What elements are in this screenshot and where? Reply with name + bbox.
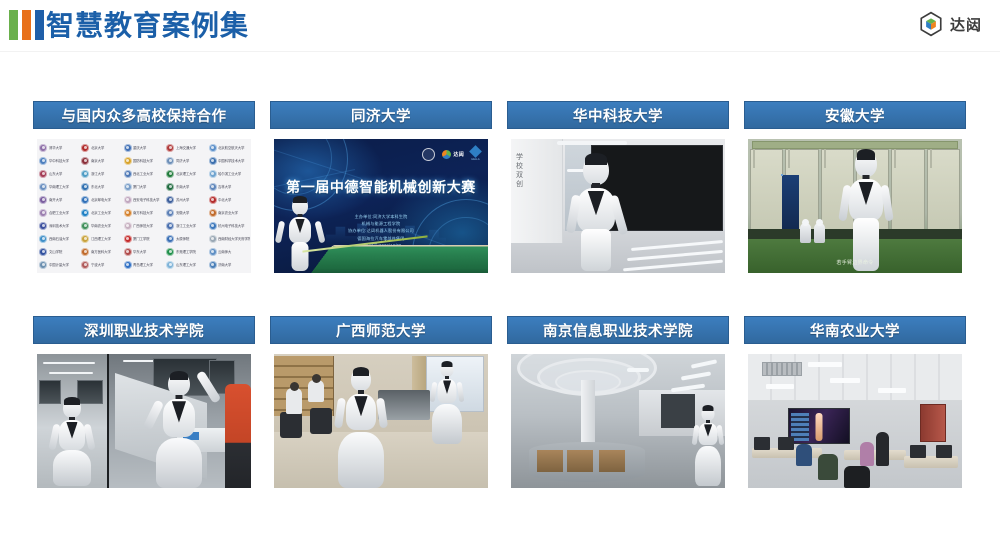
ceiling-vent: [762, 362, 802, 376]
card-title-tongji: 同济大学: [270, 101, 492, 129]
university-chip: 西南财经大学天府学院: [208, 232, 250, 245]
university-chip: 青岛理工大学: [123, 258, 165, 271]
robots-in-classroom-image: [274, 354, 488, 488]
university-chip: 国防科技大学: [123, 154, 165, 167]
university-name: 吉林大学: [218, 184, 231, 189]
university-name: 南方医科大学: [91, 249, 111, 254]
university-seal-icon: [166, 235, 174, 243]
university-name: 南方科技大学: [133, 210, 153, 215]
university-chip: 清华大学: [38, 141, 80, 154]
humanoid-robot: [840, 151, 892, 271]
seated-student: [286, 388, 302, 414]
university-name: 安徽大学: [176, 210, 189, 215]
office-chair: [280, 412, 302, 438]
university-chip: 济南大学: [208, 258, 250, 271]
service-robot: [51, 398, 93, 486]
accent-bar-green: [9, 10, 18, 40]
university-name: 广西师范大学: [133, 223, 153, 228]
university-name: 华南理工大学: [49, 184, 69, 189]
university-seal-icon: [166, 222, 174, 230]
university-seal-icon: [166, 183, 174, 191]
university-seal-icon: [39, 248, 47, 256]
university-seal-icon: [124, 222, 132, 230]
computer-monitor: [754, 437, 770, 450]
case-card-hust[interactable]: 华中科技大学 学校双创: [507, 101, 729, 284]
seated-student: [796, 444, 812, 466]
university-seal-icon: [124, 235, 132, 243]
lab-cabinet: [891, 149, 924, 231]
university-chip: 同济大学: [165, 154, 207, 167]
darwin-brand-icon: 达闼: [442, 150, 464, 159]
case-card-gxnu[interactable]: 广西师范大学: [270, 316, 492, 499]
ceiling-light: [830, 378, 860, 383]
card-media-scau: [744, 350, 966, 490]
university-seal-icon: [166, 144, 174, 152]
card-title-szpt: 深圳职业技术学院: [33, 316, 255, 344]
humanoid-robot: [280, 197, 320, 271]
seated-student: [844, 466, 870, 488]
university-seal-icon: [81, 209, 89, 217]
card-media-partners: 清华大学北京大学重庆大学上海交通大学北京航空航天大学华中科技大学南京大学国防科技…: [33, 135, 255, 275]
lab-cabinet: [927, 149, 960, 231]
university-name: 合肥工业大学: [49, 210, 69, 215]
card-title-partners: 与国内众多高校保持合作: [33, 101, 255, 129]
university-chip: 南京大学: [80, 154, 122, 167]
university-chip: 南京农业大学: [208, 206, 250, 219]
university-name: 山东理工大学: [176, 262, 196, 267]
futuristic-hall-image: [511, 354, 725, 488]
presentation-display: [788, 408, 850, 444]
university-name: 南京农业大学: [218, 210, 238, 215]
ceiling-light: [627, 368, 649, 372]
university-seal-icon: [81, 261, 89, 269]
university-chip: 中国科学技术大学: [208, 154, 250, 167]
competition-poster-image: 达闼 HELLA 第一届中德智能机械创新大赛 主办单位:同济大学本科生院 机械与…: [274, 139, 488, 273]
cabinet-top-box: [752, 141, 958, 149]
university-name: 杭州电子科技大学: [218, 223, 244, 228]
wall-vertical-text: 学校双创: [516, 153, 527, 189]
university-seal-icon: [39, 144, 47, 152]
university-seal-icon: [209, 144, 217, 152]
university-name: 同济大学: [176, 158, 189, 163]
university-chip: 中北大学: [208, 193, 250, 206]
university-chip: 北京理工大学: [165, 167, 207, 180]
university-chip: 中国计量大学: [38, 258, 80, 271]
standing-banner: [782, 175, 799, 231]
university-chip: 哈尔滨工业大学: [208, 167, 250, 180]
office-chair: [310, 408, 332, 434]
composite-pane-right: [109, 354, 251, 488]
university-seal-icon: [209, 183, 217, 191]
university-logo-wall: 清华大学北京大学重庆大学上海交通大学北京航空航天大学华中科技大学南京大学国防科技…: [37, 139, 251, 273]
university-chip: 深圳技术大学: [38, 219, 80, 232]
university-seal-icon: [81, 144, 89, 152]
university-chip: 西安电子科技大学: [123, 193, 165, 206]
case-card-tongji[interactable]: 同济大学 达闼: [270, 101, 492, 284]
university-chip: 苏州大学: [165, 193, 207, 206]
accent-bar-orange: [22, 10, 31, 40]
university-seal-icon: [124, 157, 132, 165]
university-seal-icon: [209, 235, 217, 243]
university-chip: 北京大学: [80, 141, 122, 154]
university-name: 东南大学: [176, 184, 189, 189]
university-name: 中北大学: [218, 197, 231, 202]
university-chip: 吉林大学: [208, 180, 250, 193]
university-seal-icon: [124, 144, 132, 152]
university-chip: 重庆大学: [123, 141, 165, 154]
case-card-scau[interactable]: 华南农业大学: [744, 316, 966, 499]
case-card-njcit[interactable]: 南京信息职业技术学院: [507, 316, 729, 499]
ceiling-light: [808, 362, 842, 367]
lab-door: [920, 404, 946, 442]
university-chip: 广西师范大学: [123, 219, 165, 232]
university-name: 青岛理工大学: [133, 262, 153, 267]
case-card-anhui[interactable]: 安徽大学: [744, 101, 966, 284]
service-robots-composite-image: [37, 354, 251, 488]
university-seal-icon: [209, 248, 217, 256]
ceiling-light: [43, 362, 95, 364]
robot-in-lab-image: 若手臂边界命令: [748, 139, 962, 273]
hexagon-cube-logo-icon: [918, 11, 944, 37]
card-media-gxnu: [270, 350, 492, 490]
accent-bar-blue: [35, 10, 44, 40]
corporate-logo: 达闼: [918, 11, 982, 37]
dark-doorway: [661, 394, 695, 428]
university-chip: 东南大学: [165, 180, 207, 193]
poster-logo-row: 达闼 HELLA: [422, 147, 480, 161]
university-seal-icon: [81, 170, 89, 178]
computer-lab-image: [748, 354, 962, 488]
service-robot: [693, 406, 723, 486]
page-title: 智慧教育案例集: [46, 6, 249, 46]
standing-student: [860, 442, 874, 466]
university-name: 厦门工学院: [133, 236, 149, 241]
university-seal-icon: [81, 183, 89, 191]
university-chip: 浙江工业大学: [165, 219, 207, 232]
university-seal-icon: [39, 209, 47, 217]
wooden-desk: [599, 450, 625, 472]
ceiling-light: [49, 372, 93, 374]
university-seal-icon: [209, 157, 217, 165]
billiard-table: [306, 245, 488, 273]
card-media-njcit: [507, 350, 729, 490]
video-subtitle: 若手臂边界命令: [748, 259, 962, 266]
university-seal-icon: [166, 248, 174, 256]
university-chip: 华中科技大学: [38, 154, 80, 167]
university-name: 国防科技大学: [133, 158, 153, 163]
university-name: 清华大学: [49, 145, 62, 150]
university-name: 宁波大学: [91, 262, 104, 267]
university-seal-icon: [166, 157, 174, 165]
university-chip: 华南理工大学: [38, 180, 80, 193]
case-cards-grid: 与国内众多高校保持合作 清华大学北京大学重庆大学上海交通大学北京航空航天大学华中…: [33, 101, 967, 501]
card-title-anhui: 安徽大学: [744, 101, 966, 129]
service-robot: [153, 372, 205, 488]
computer-monitor: [778, 437, 794, 450]
university-chip: 东莞理工学院: [165, 245, 207, 258]
university-chip: 南方医科大学: [80, 245, 122, 258]
humanoid-robot: [334, 368, 388, 488]
wooden-desk: [537, 450, 563, 472]
university-seal-icon: [39, 261, 47, 269]
university-chip: 杭州电子科技大学: [208, 219, 250, 232]
university-seal-icon: [39, 157, 47, 165]
wooden-desk: [567, 450, 593, 472]
university-name: 江西理工大学: [91, 236, 111, 241]
card-media-hust: 学校双创: [507, 135, 729, 275]
university-chip: 上海交通大学: [165, 141, 207, 154]
university-seal-icon: [39, 235, 47, 243]
university-name: 深圳技术大学: [49, 223, 69, 228]
card-media-tongji: 达闼 HELLA 第一届中德智能机械创新大赛 主办单位:同济大学本科生院 机械与…: [270, 135, 492, 275]
ceiling-light: [766, 384, 794, 389]
university-chip: 云南师大: [208, 245, 250, 258]
university-name: 华中科技大学: [49, 158, 69, 163]
seated-student: [308, 380, 324, 402]
university-name: 浙江大学: [91, 171, 104, 176]
university-name: 东莞理工学院: [176, 249, 196, 254]
university-chip: 厦门大学: [123, 180, 165, 193]
university-seal-icon: [124, 170, 132, 178]
card-title-gxnu: 广西师范大学: [270, 316, 492, 344]
header-divider: [0, 51, 1000, 52]
computer-monitor: [936, 445, 952, 458]
lab-cabinet: [750, 149, 783, 231]
university-name: 济南大学: [218, 262, 231, 267]
university-chip: 安徽大学: [165, 206, 207, 219]
hella-brand-icon: HELLA: [471, 147, 480, 161]
university-name: 苏州大学: [176, 197, 189, 202]
university-chip: 东北大学: [80, 180, 122, 193]
university-chip: 合肥工业大学: [38, 206, 80, 219]
university-chip: 华南农业大学: [80, 219, 122, 232]
university-name: 厦门大学: [133, 184, 146, 189]
central-column: [581, 380, 595, 446]
university-chip: 南方科技大学: [123, 206, 165, 219]
university-name: 山东大学: [49, 171, 62, 176]
university-name: 中国计量大学: [49, 262, 69, 267]
university-chip: 北京邮电大学: [80, 193, 122, 206]
computer-monitor: [910, 445, 926, 458]
university-chip: 华东大学: [123, 245, 165, 258]
card-title-hust: 华中科技大学: [507, 101, 729, 129]
university-seal-icon: [39, 196, 47, 204]
university-seal-icon: [209, 209, 217, 217]
case-card-partners[interactable]: 与国内众多高校保持合作 清华大学北京大学重庆大学上海交通大学北京航空航天大学华中…: [33, 101, 255, 284]
tongji-seal-icon: [422, 148, 435, 161]
robot-in-corridor-image: 学校双创: [511, 139, 725, 273]
composite-pane-left: [37, 354, 107, 488]
ceiling-light: [878, 388, 906, 393]
humanoid-robot: [430, 362, 464, 450]
seated-student: [818, 454, 838, 480]
corporate-logo-text: 达闼: [950, 14, 982, 35]
person-in-red-shirt: [225, 384, 251, 488]
university-name: 云南师大: [218, 249, 231, 254]
humanoid-robot: [567, 155, 625, 271]
university-name: 北京邮电大学: [91, 197, 111, 202]
card-media-szpt: [33, 350, 255, 490]
university-name: 北京工业大学: [91, 210, 111, 215]
university-name: 西安电子科技大学: [133, 197, 159, 202]
university-name: 中国科学技术大学: [218, 158, 244, 163]
ceiling-light: [557, 141, 627, 145]
university-name: 上海交通大学: [176, 145, 196, 150]
ceiling-light: [681, 371, 711, 380]
ceiling-light: [691, 359, 717, 368]
card-title-scau: 华南农业大学: [744, 316, 966, 344]
university-seal-icon: [81, 157, 89, 165]
computer-desk: [844, 450, 906, 460]
university-seal-icon: [166, 170, 174, 178]
university-name: 太原师院: [176, 236, 189, 241]
university-chip: 西南石油大学: [38, 232, 80, 245]
university-name: 北京理工大学: [176, 171, 196, 176]
university-seal-icon: [124, 248, 132, 256]
card-title-njcit: 南京信息职业技术学院: [507, 316, 729, 344]
university-chip: 浙江大学: [80, 167, 122, 180]
university-chip: 北京工业大学: [80, 206, 122, 219]
university-chip: 北京航空航天大学: [208, 141, 250, 154]
university-seal-icon: [166, 196, 174, 204]
university-seal-icon: [81, 235, 89, 243]
university-name: 北京航空航天大学: [218, 145, 244, 150]
university-seal-icon: [209, 196, 217, 204]
university-seal-icon: [166, 261, 174, 269]
university-chip: 江西理工大学: [80, 232, 122, 245]
university-name: 文山学院: [49, 249, 62, 254]
university-chip: 山东理工大学: [165, 258, 207, 271]
university-name: 西北工业大学: [133, 171, 153, 176]
university-seal-icon: [124, 261, 132, 269]
university-seal-icon: [124, 183, 132, 191]
university-name: 南开大学: [49, 197, 62, 202]
small-robot: [814, 223, 825, 243]
university-seal-icon: [209, 170, 217, 178]
university-chip: 山东大学: [38, 167, 80, 180]
university-chip: 太原师院: [165, 232, 207, 245]
university-name: 重庆大学: [133, 145, 146, 150]
case-card-szpt[interactable]: 深圳职业技术学院: [33, 316, 255, 499]
card-media-anhui: 若手臂边界命令: [744, 135, 966, 275]
university-name: 浙江工业大学: [176, 223, 196, 228]
university-chip: 南开大学: [38, 193, 80, 206]
university-name: 哈尔滨工业大学: [218, 171, 241, 176]
university-name: 西南石油大学: [49, 236, 69, 241]
poster-headline: 第一届中德智能机械创新大赛: [274, 177, 488, 197]
university-seal-icon: [39, 222, 47, 230]
university-seal-icon: [166, 209, 174, 217]
university-chip: 宁波大学: [80, 258, 122, 271]
university-chip: 厦门工学院: [123, 232, 165, 245]
university-seal-icon: [124, 209, 132, 217]
university-name: 华东大学: [133, 249, 146, 254]
university-seal-icon: [81, 196, 89, 204]
brand-accent-bars: [9, 10, 44, 40]
page-header: 智慧教育案例集 达闼: [0, 0, 1000, 52]
university-name: 华南农业大学: [91, 223, 111, 228]
university-name: 南京大学: [91, 158, 104, 163]
university-seal-icon: [81, 222, 89, 230]
university-seal-icon: [124, 196, 132, 204]
university-seal-icon: [209, 261, 217, 269]
university-seal-icon: [39, 170, 47, 178]
university-seal-icon: [81, 248, 89, 256]
university-seal-icon: [39, 183, 47, 191]
small-robot: [800, 223, 811, 243]
university-chip: 文山学院: [38, 245, 80, 258]
university-name: 西南财经大学天府学院: [218, 236, 250, 241]
university-chip: 西北工业大学: [123, 167, 165, 180]
university-name: 东北大学: [91, 184, 104, 189]
university-name: 北京大学: [91, 145, 104, 150]
standing-instructor: [876, 432, 889, 466]
ceiling-tiles: [748, 354, 962, 400]
university-seal-icon: [209, 222, 217, 230]
